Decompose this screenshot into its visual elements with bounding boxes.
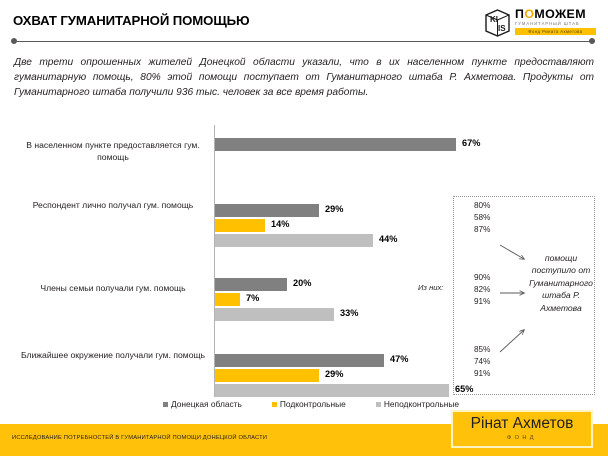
- bar-value-label: 29%: [325, 203, 343, 216]
- foundation-logo: Рінат Ахметов ФОНД: [451, 410, 593, 448]
- callout-value: 58%: [474, 212, 490, 224]
- callout-prefix-label: Из них:: [418, 283, 443, 292]
- category-label: Ближайшее окружение получали гум. помощь: [18, 350, 208, 362]
- callout-stack-3: 85% 74% 91%: [474, 344, 490, 381]
- legend-item-uncontrolled[interactable]: Неподконтрольные: [376, 399, 459, 409]
- bar-value-label: 7%: [246, 292, 259, 305]
- title-divider: [13, 41, 595, 42]
- callout-value: 80%: [474, 200, 490, 212]
- brand-name-part1: П: [515, 7, 524, 21]
- chart-legend: Донецкая область Подконтрольные Неподкон…: [163, 399, 459, 409]
- intro-paragraph: Две трети опрошенных жителей Донецкой об…: [14, 55, 594, 101]
- callout-value: 85%: [474, 344, 490, 356]
- brand-foundation-bar: Фонд Рината Ахметова: [515, 28, 596, 35]
- bar-donetsk: [215, 278, 287, 291]
- callout-value: 90%: [474, 272, 490, 284]
- table-row: 67%: [215, 138, 475, 151]
- bar-uncontrolled: [215, 234, 373, 247]
- legend-swatch-icon: [272, 402, 277, 407]
- callout-value: 82%: [474, 284, 490, 296]
- brand-logo: KI IS ПОМОЖЕМ ГУМАНИТАРНЫЙ ШТАБ Фонд Рин…: [484, 8, 596, 38]
- legend-label: Донецкая область: [171, 399, 242, 409]
- bar-value-label: 67%: [462, 137, 480, 150]
- legend-item-controlled[interactable]: Подконтрольные: [272, 399, 346, 409]
- brand-subtitle: ГУМАНИТАРНЫЙ ШТАБ: [515, 21, 596, 27]
- brand-name-accent: О: [524, 7, 534, 21]
- callout-stack-2: 90% 82% 91%: [474, 272, 490, 309]
- category-label: Члены семьи получали гум. помощь: [18, 283, 208, 295]
- legend-label: Подконтрольные: [280, 399, 346, 409]
- callout-value: 87%: [474, 224, 490, 236]
- legend-item-donetsk[interactable]: Донецкая область: [163, 399, 242, 409]
- brand-name-part2: МОЖЕМ: [534, 7, 586, 21]
- svg-text:IS: IS: [498, 24, 506, 33]
- bar-value-label: 29%: [325, 368, 343, 381]
- bar-value-label: 20%: [293, 277, 311, 290]
- bar-controlled: [215, 219, 265, 232]
- bar-value-label: 33%: [340, 307, 358, 320]
- callout-note-text: помощи поступило от Гуманитарного штаба …: [528, 252, 594, 314]
- bar-donetsk: [215, 354, 384, 367]
- footer-caption: ИССЛЕДОВАНИЕ ПОТРЕБНОСТЕЙ В ГУМАНИТАРНОЙ…: [12, 435, 267, 441]
- callout-value: 91%: [474, 296, 490, 308]
- bar-controlled: [215, 293, 240, 306]
- legend-swatch-icon: [376, 402, 381, 407]
- foundation-logo-name: Рінат Ахметов: [453, 415, 591, 433]
- legend-swatch-icon: [163, 402, 168, 407]
- legend-label: Неподконтрольные: [384, 399, 459, 409]
- bar-value-label: 44%: [379, 233, 397, 246]
- category-label: В населенном пункте предоставляется гум.…: [18, 140, 208, 163]
- page-header: ОХВАТ ГУМАНИТАРНОЙ ПОМОЩЬЮ KI IS ПОМОЖЕМ…: [0, 0, 608, 48]
- callout-stack-1: 80% 58% 87%: [474, 200, 490, 237]
- bar-donetsk: [215, 138, 456, 151]
- svg-text:KI: KI: [490, 15, 498, 24]
- bar-uncontrolled: [215, 384, 449, 397]
- bar-donetsk: [215, 204, 319, 217]
- callout-value: 91%: [474, 368, 490, 380]
- humanitarian-hq-mark-icon: KI IS: [484, 9, 511, 37]
- brand-logo-text: ПОМОЖЕМ ГУМАНИТАРНЫЙ ШТАБ Фонд Рината Ах…: [515, 8, 596, 35]
- bar-uncontrolled: [215, 308, 334, 321]
- bar-value-label: 14%: [271, 218, 289, 231]
- callout-value: 74%: [474, 356, 490, 368]
- bar-controlled: [215, 369, 319, 382]
- page-title: ОХВАТ ГУМАНИТАРНОЙ ПОМОЩЬЮ: [13, 13, 250, 28]
- bar-value-label: 47%: [390, 353, 408, 366]
- brand-name: ПОМОЖЕМ: [515, 8, 596, 21]
- category-label: Респондент лично получал гум. помощь: [18, 200, 208, 212]
- foundation-logo-subtitle: ФОНД: [453, 435, 591, 441]
